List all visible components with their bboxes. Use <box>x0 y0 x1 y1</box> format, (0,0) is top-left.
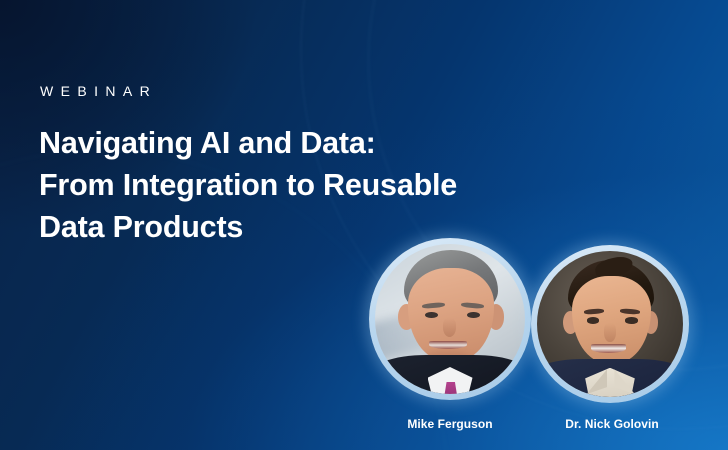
title-line-2: From Integration to Reusable <box>39 164 569 206</box>
avatar-2-eye-left <box>587 317 599 323</box>
avatar-2-eye-right <box>625 317 637 323</box>
avatar-1-nose <box>443 318 457 338</box>
webinar-promo-banner: WEBINAR Navigating AI and Data: From Int… <box>0 0 728 450</box>
title-line-1: Navigating AI and Data: <box>39 122 569 164</box>
eyebrow-label: WEBINAR <box>40 84 157 98</box>
avatar-2 <box>537 251 683 397</box>
speaker-name-2: Dr. Nick Golovin <box>512 418 712 430</box>
avatar-1-eye-right <box>467 312 481 319</box>
avatar-1-mouth <box>429 341 467 349</box>
avatar-1-eye-left <box>425 312 439 319</box>
page-title: Navigating AI and Data: From Integration… <box>39 122 569 249</box>
avatar-2-nose <box>604 323 616 342</box>
avatar-1 <box>375 244 525 394</box>
title-line-3: Data Products <box>39 206 569 248</box>
